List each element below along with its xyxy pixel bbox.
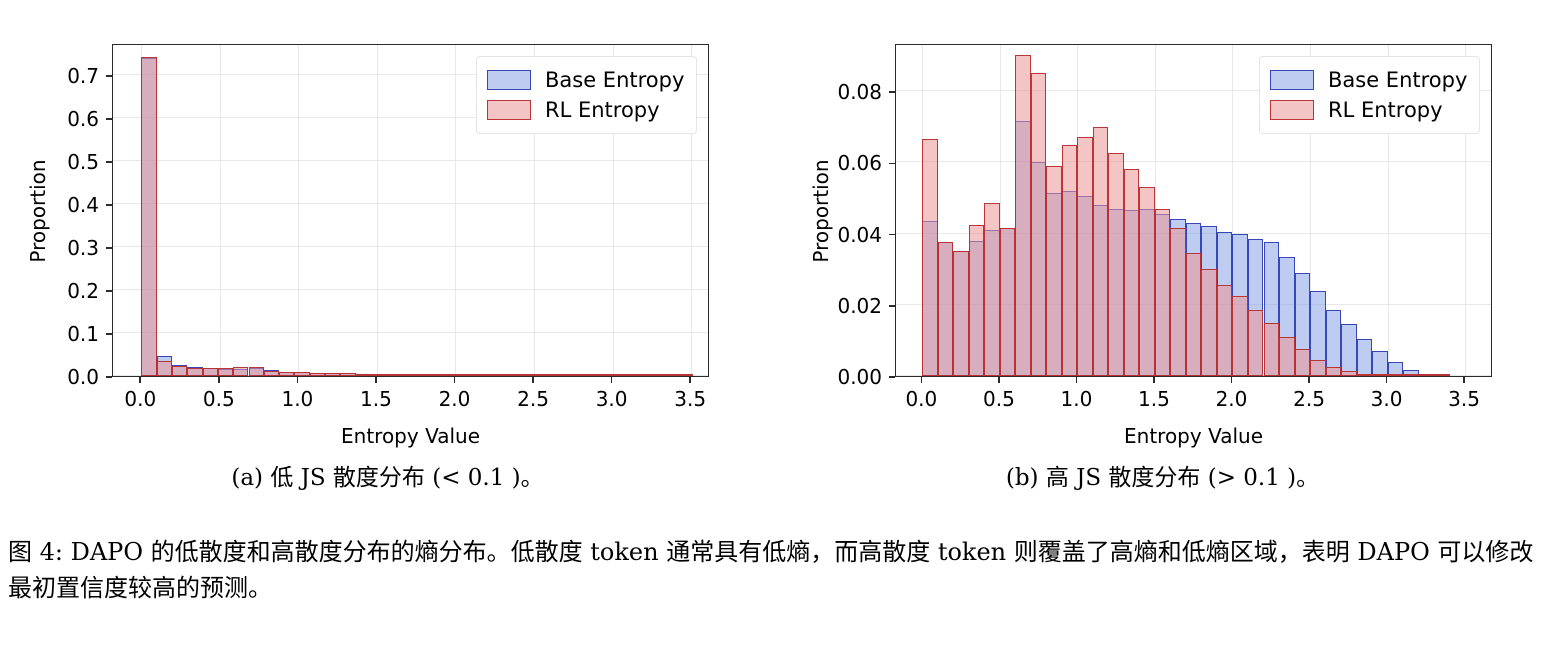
x-tick-mark: [1386, 377, 1388, 383]
legend-item-rl: RL Entropy: [1270, 95, 1467, 125]
bar-rl: [1310, 360, 1326, 376]
bar-rl: [555, 374, 570, 376]
x-tick-label: 1.5: [360, 387, 392, 411]
bar-rl: [601, 374, 616, 376]
bar-rl: [509, 374, 524, 376]
bar-rl: [585, 374, 600, 376]
x-tick-mark: [139, 377, 141, 383]
y-tick-mark: [106, 118, 112, 120]
legend-swatch-rl-icon: [1270, 100, 1314, 120]
bar-base: [1372, 351, 1388, 376]
bar-base: [1326, 310, 1342, 376]
y-tick-label: 0.08: [837, 80, 882, 104]
bar-rl: [294, 372, 309, 376]
bar-rl: [1295, 349, 1311, 376]
bar-rl: [1434, 374, 1450, 376]
legend-b: Base Entropy RL Entropy: [1259, 56, 1480, 134]
y-tick-label: 0.1: [67, 322, 99, 346]
y-tick-label: 0.06: [837, 151, 882, 175]
y-tick-mark: [106, 247, 112, 249]
x-tick-label: 1.5: [1138, 387, 1170, 411]
x-tick-mark: [1463, 377, 1465, 383]
y-tick-mark: [106, 75, 112, 77]
bar-rl: [371, 374, 386, 376]
bar-rl: [953, 251, 969, 376]
chart-panel-b: 0.000.020.040.060.080.00.51.01.52.02.53.…: [775, 0, 1550, 448]
subcaption-a: (a) 低 JS 散度分布 (< 0.1 )。: [0, 458, 775, 492]
legend-label-base: Base Entropy: [545, 68, 684, 92]
y-tick-mark: [889, 234, 895, 236]
bar-rl: [570, 374, 585, 376]
legend-label-base: Base Entropy: [1328, 68, 1467, 92]
bar-rl: [1248, 310, 1264, 376]
bar-rl: [1403, 374, 1419, 376]
legend-swatch-base-icon: [1270, 70, 1314, 90]
bar-rl: [616, 374, 631, 376]
legend-item-base: Base Entropy: [1270, 65, 1467, 95]
bar-rl: [402, 374, 417, 376]
bar-rl: [494, 374, 509, 376]
y-tick-label: 0.3: [67, 236, 99, 260]
bar-rl: [233, 367, 248, 376]
x-tick-mark: [297, 377, 299, 383]
y-tick-label: 0.04: [837, 223, 882, 247]
x-tick-mark: [689, 377, 691, 383]
x-tick-label: 3.0: [1371, 387, 1403, 411]
legend-label-rl: RL Entropy: [545, 98, 660, 122]
bar-rl: [386, 374, 401, 376]
x-tick-mark: [611, 377, 613, 383]
bar-rl: [141, 57, 156, 376]
y-tick-mark: [889, 305, 895, 307]
bar-rl: [1357, 374, 1373, 376]
bar-rl: [1093, 127, 1109, 376]
y-tick-label: 0.6: [67, 107, 99, 131]
legend-swatch-rl-icon: [487, 100, 531, 120]
bar-base: [1341, 324, 1357, 376]
bar-rl: [325, 373, 340, 376]
legend-item-base: Base Entropy: [487, 65, 684, 95]
bar-rl: [631, 374, 646, 376]
bar-rl: [1217, 285, 1233, 376]
bar-rl: [1201, 269, 1217, 376]
figure-caption: 图 4: DAPO 的低散度和高散度分布的熵分布。低散度 token 通常具有低…: [8, 534, 1542, 607]
x-tick-mark: [1076, 377, 1078, 383]
x-tick-label: 3.5: [674, 387, 706, 411]
y-tick-mark: [106, 376, 112, 378]
bar-rl: [1015, 55, 1031, 376]
figure-root: 0.00.10.20.30.40.50.60.70.00.51.01.52.02…: [0, 0, 1550, 652]
x-tick-mark: [218, 377, 220, 383]
bar-rl: [938, 242, 954, 376]
bar-rl: [172, 366, 187, 376]
bar-rl: [524, 374, 539, 376]
y-tick-label: 0.00: [837, 365, 882, 389]
bar-rl: [540, 374, 555, 376]
subcaption-b: (b) 高 JS 散度分布 (> 0.1 )。: [775, 458, 1550, 492]
x-tick-mark: [532, 377, 534, 383]
legend-label-rl: RL Entropy: [1328, 98, 1443, 122]
bar-rl: [1139, 187, 1155, 376]
bar-rl: [922, 139, 938, 376]
bar-rl: [984, 203, 1000, 376]
bar-rl: [1341, 371, 1357, 376]
bar-rl: [1062, 145, 1078, 376]
bar-rl: [1326, 367, 1342, 376]
x-tick-mark: [1153, 377, 1155, 383]
bar-rl: [218, 368, 233, 376]
bar-rl: [203, 368, 218, 376]
bar-rl: [356, 374, 371, 376]
y-tick-mark: [106, 161, 112, 163]
bar-rl: [478, 374, 493, 376]
legend-a: Base Entropy RL Entropy: [476, 56, 697, 134]
bar-rl: [448, 374, 463, 376]
x-tick-label: 1.0: [281, 387, 313, 411]
bar-rl: [1419, 374, 1435, 376]
x-tick-label: 3.5: [1448, 387, 1480, 411]
bar-rl: [432, 374, 447, 376]
y-tick-label: 0.02: [837, 294, 882, 318]
x-tick-mark: [998, 377, 1000, 383]
bar-rl: [662, 374, 677, 376]
bar-rl: [279, 372, 294, 376]
y-tick-mark: [106, 333, 112, 335]
legend-swatch-base-icon: [487, 70, 531, 90]
x-tick-label: 2.5: [1293, 387, 1325, 411]
x-tick-mark: [1231, 377, 1233, 383]
x-tick-mark: [375, 377, 377, 383]
x-tick-label: 3.0: [596, 387, 628, 411]
y-tick-label: 0.4: [67, 193, 99, 217]
bar-rl: [1124, 169, 1140, 376]
bar-base: [1357, 339, 1373, 376]
x-tick-label: 0.0: [124, 387, 156, 411]
y-tick-label: 0.7: [67, 64, 99, 88]
bar-rl: [1031, 73, 1047, 376]
bar-rl: [1155, 209, 1171, 376]
bar-rl: [157, 361, 172, 376]
legend-item-rl: RL Entropy: [487, 95, 684, 125]
x-tick-label: 0.5: [203, 387, 235, 411]
bar-rl: [417, 374, 432, 376]
bar-rl: [1388, 374, 1404, 376]
bar-rl: [969, 225, 985, 376]
bar-rl: [647, 374, 662, 376]
y-tick-label: 0.2: [67, 279, 99, 303]
x-tick-label: 2.5: [517, 387, 549, 411]
y-tick-mark: [106, 290, 112, 292]
bar-rl: [1077, 137, 1093, 376]
x-tick-label: 0.0: [905, 387, 937, 411]
x-tick-mark: [454, 377, 456, 383]
bar-rl: [1232, 296, 1248, 376]
x-tick-label: 2.0: [1216, 387, 1248, 411]
bar-rl: [1264, 323, 1280, 376]
x-tick-label: 2.0: [439, 387, 471, 411]
x-tick-label: 0.5: [983, 387, 1015, 411]
x-tick-label: 1.0: [1061, 387, 1093, 411]
y-tick-mark: [106, 204, 112, 206]
y-tick-label: 0.0: [67, 365, 99, 389]
x-tick-mark: [1308, 377, 1310, 383]
x-axis-title-b: Entropy Value: [1124, 424, 1263, 448]
x-tick-mark: [921, 377, 923, 383]
y-axis-title-a: Proportion: [26, 159, 50, 262]
bar-rl: [1108, 153, 1124, 376]
bar-rl: [1046, 166, 1062, 376]
bar-rl: [340, 373, 355, 376]
bar-rl: [1372, 374, 1388, 376]
bar-rl: [1000, 228, 1016, 376]
bar-rl: [264, 371, 279, 376]
bar-rl: [1279, 337, 1295, 376]
bar-rl: [1170, 228, 1186, 376]
x-axis-title-a: Entropy Value: [341, 424, 480, 448]
bar-rl: [310, 373, 325, 376]
bar-rl: [463, 374, 478, 376]
bar-rl: [249, 367, 264, 376]
chart-panel-a: 0.00.10.20.30.40.50.60.70.00.51.01.52.02…: [0, 0, 775, 448]
bar-rl: [187, 368, 202, 376]
bar-rl: [677, 374, 692, 376]
bar-rl: [1186, 253, 1202, 376]
y-tick-label: 0.5: [67, 150, 99, 174]
y-tick-mark: [889, 163, 895, 165]
y-axis-title-b: Proportion: [809, 159, 833, 262]
y-tick-mark: [889, 91, 895, 93]
y-tick-mark: [889, 376, 895, 378]
